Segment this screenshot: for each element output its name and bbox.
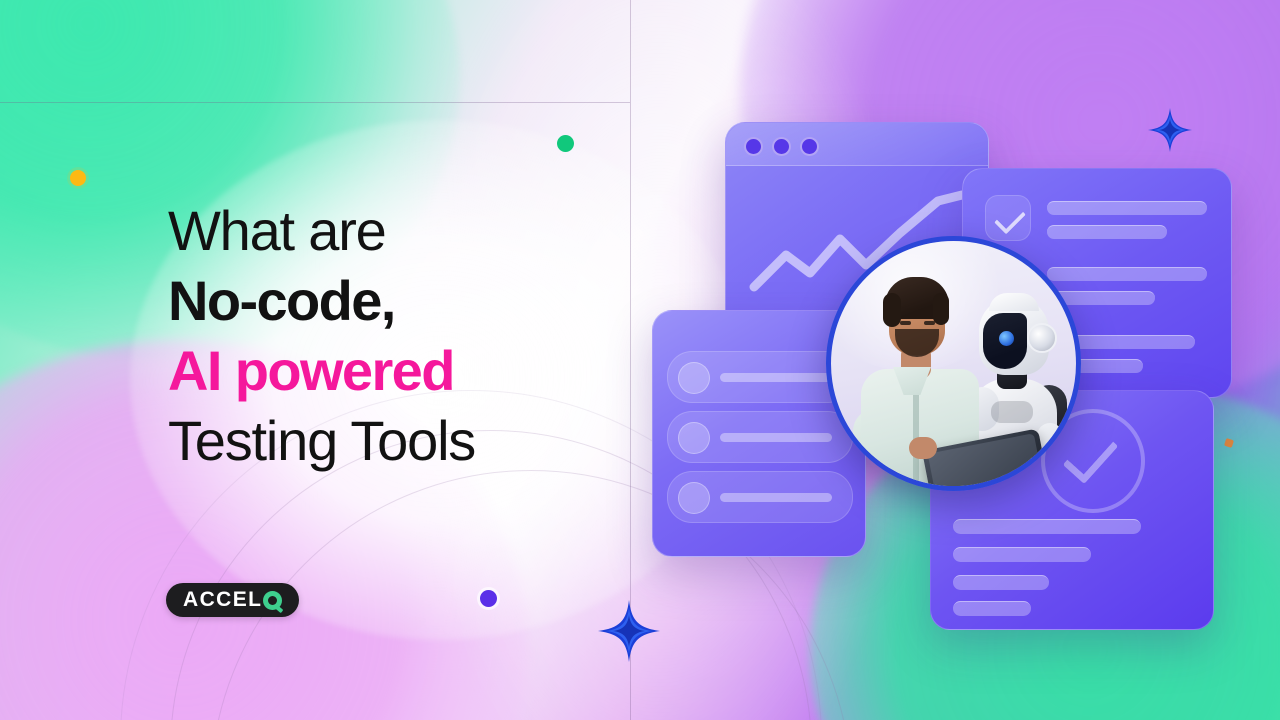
person-hand: [909, 437, 937, 459]
list-item: [667, 471, 853, 523]
bullet-icon: [678, 422, 710, 454]
window-dot-icon: [800, 137, 819, 156]
robot-ear: [1027, 323, 1057, 353]
window-dot-icon: [744, 137, 763, 156]
logo-text-accel: ACCEL: [183, 588, 262, 612]
window-title-bar: [726, 123, 988, 166]
accent-dot-green: [557, 135, 574, 152]
text-bar: [720, 493, 832, 502]
text-bar: [1047, 201, 1207, 215]
logo-q-icon: [263, 591, 282, 610]
list-item: [667, 411, 853, 463]
banner-canvas: What are No-code, AI powered Testing Too…: [0, 0, 1280, 720]
text-bar: [953, 519, 1141, 534]
accelq-logo[interactable]: ACCEL: [166, 583, 299, 617]
guide-line-horizontal: [0, 102, 630, 103]
human-and-robot-photo: [826, 236, 1081, 491]
headline-line-3-accent: AI powered: [168, 336, 598, 406]
checkbox-icon: [985, 195, 1031, 241]
robot-eye-icon: [999, 331, 1014, 346]
headline: What are No-code, AI powered Testing Too…: [168, 196, 598, 476]
accent-dot-purple: [480, 590, 497, 607]
sparkle-star-icon: [1148, 108, 1192, 152]
accent-dot-orange: [70, 170, 86, 186]
text-bar: [1047, 225, 1167, 239]
text-bar: [953, 601, 1031, 616]
text-bar: [953, 547, 1091, 562]
bullet-icon: [678, 362, 710, 394]
sparkle-star-icon: [598, 600, 660, 662]
headline-line-1: What are: [168, 196, 598, 266]
headline-line-2: No-code,: [168, 266, 598, 336]
window-controls: [744, 137, 819, 156]
logo-wordmark: ACCEL: [183, 588, 282, 612]
headline-line-4: Testing Tools: [168, 406, 598, 476]
window-dot-icon: [772, 137, 791, 156]
bullet-icon: [678, 482, 710, 514]
text-bar: [720, 433, 832, 442]
text-bar: [953, 575, 1049, 590]
text-bar: [720, 373, 832, 382]
